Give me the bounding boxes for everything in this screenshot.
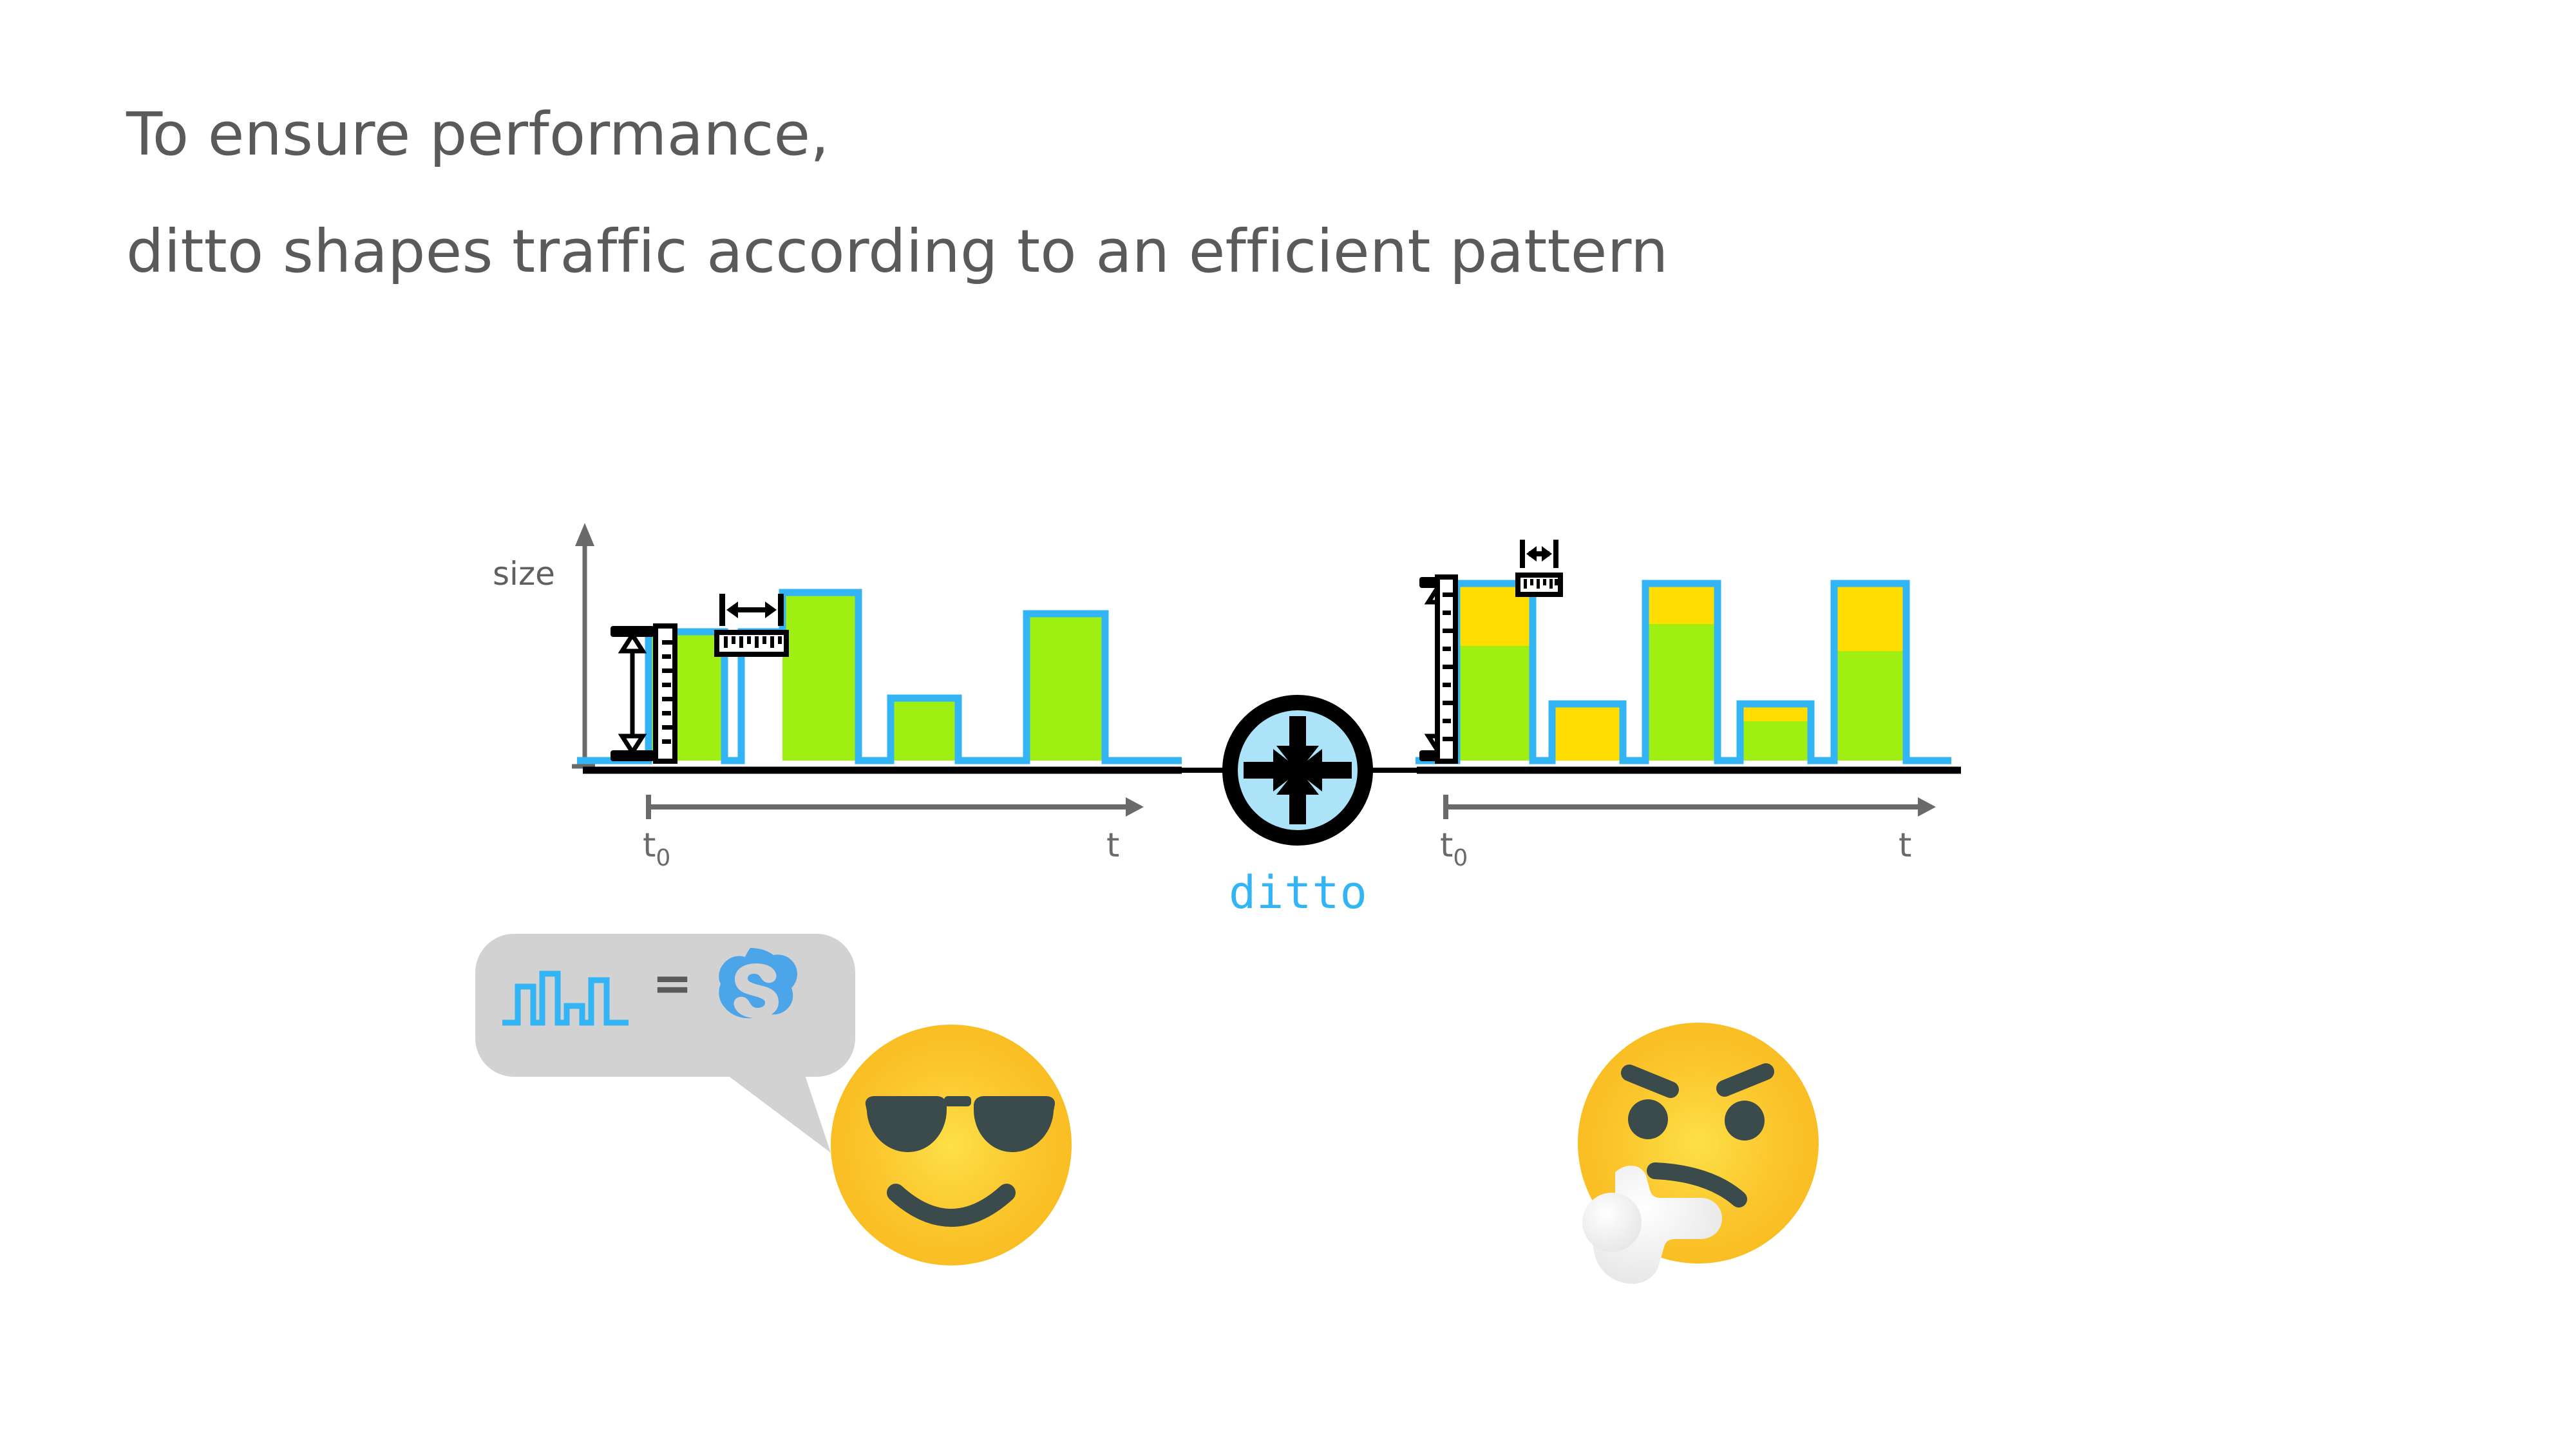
- right-bar-1-green: [1457, 646, 1533, 761]
- left-traffic-chart: size: [493, 523, 1182, 871]
- slide-canvas: To ensure performance, ditto shapes traf…: [0, 0, 2576, 1449]
- equals-sign: =: [652, 956, 692, 1011]
- left-x-end-label: t: [1106, 826, 1119, 865]
- skype-icon: [719, 948, 797, 1018]
- thinking-face-emoji: [1578, 1023, 1819, 1284]
- left-bar-5: [1027, 614, 1105, 761]
- right-x-axis: [1446, 795, 1936, 819]
- ditto-router-node[interactable]: ditto: [1182, 703, 1417, 919]
- right-x-start-label: t0: [1440, 826, 1468, 871]
- right-size-measure-icon: [1419, 577, 1458, 761]
- left-size-measure-icon: [611, 626, 676, 761]
- right-bar-5-yellow: [1834, 583, 1906, 651]
- right-bar-3-yellow: [1645, 583, 1718, 624]
- left-y-axis-label: size: [493, 555, 555, 592]
- right-x-end-label: t: [1899, 826, 1911, 865]
- right-traffic-chart: t0 t: [1416, 540, 1961, 871]
- right-bar-3-green: [1645, 624, 1718, 761]
- speech-bubble: =: [475, 934, 855, 1153]
- left-x-start-label: t0: [643, 826, 670, 871]
- traffic-shaping-diagram: size: [0, 0, 2576, 1449]
- right-gap-measure-icon: [1518, 540, 1560, 594]
- left-bar-4: [891, 698, 958, 761]
- ditto-node-label: ditto: [1229, 866, 1368, 919]
- right-bar-4-green: [1740, 721, 1811, 761]
- left-x-axis: [649, 795, 1144, 819]
- right-bar-2-yellow: [1552, 704, 1623, 761]
- left-bar-3: [782, 592, 858, 761]
- left-gap-measure-icon: [717, 594, 786, 654]
- smiling-face-with-sunglasses-emoji: [831, 1025, 1072, 1265]
- right-traffic-waveform: [1416, 583, 1951, 761]
- left-y-axis: [572, 523, 595, 766]
- right-bar-5-green: [1834, 651, 1906, 761]
